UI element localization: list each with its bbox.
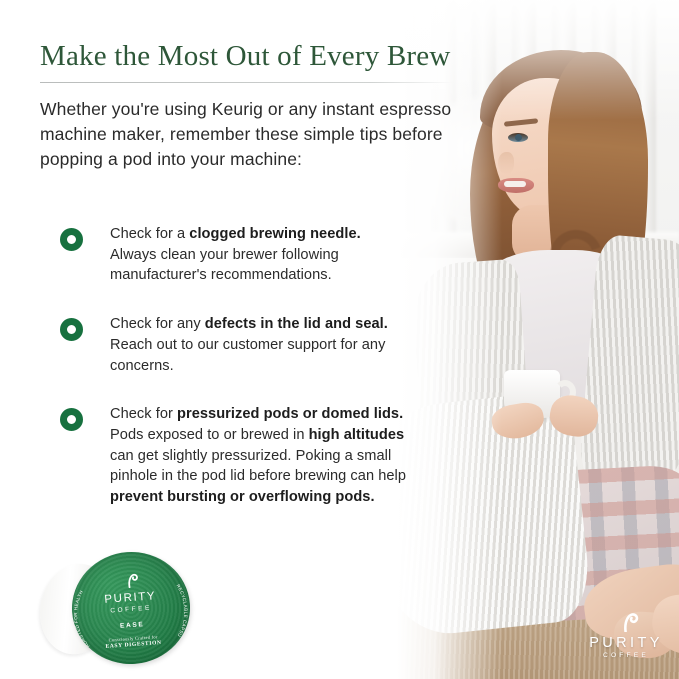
purity-spiral-icon (613, 604, 639, 632)
teeth (504, 181, 526, 187)
list-item: Check for a clogged brewing needle. Alwa… (60, 224, 420, 286)
infographic-canvas: Make the Most Out of Every Brew Whether … (0, 0, 679, 679)
intro-paragraph: Whether you're using Keurig or any insta… (40, 97, 460, 172)
list-item: Check for any defects in the lid and sea… (60, 314, 420, 376)
list-item: Check for pressurized pods or domed lids… (60, 404, 420, 508)
tip-text-2: Check for any defects in the lid and sea… (110, 314, 410, 376)
green-ring-bullet-icon (60, 408, 83, 431)
eye (508, 133, 528, 142)
logo-name: PURITY (578, 635, 674, 651)
nose (498, 152, 514, 174)
pod-lid: ROASTED FOR HEALTH AND FLAVOR RECYCLABLE… (68, 548, 194, 668)
purity-spiral-icon (118, 565, 139, 588)
logo-sub: COFFEE (578, 652, 674, 659)
brand-logo: PURITY COFFEE (578, 604, 674, 666)
tips-list: Check for a clogged brewing needle. Alwa… (60, 224, 420, 536)
green-ring-bullet-icon (60, 228, 83, 251)
tip-text-3: Check for pressurized pods or domed lids… (110, 404, 410, 508)
coffee-pod-product-image: ROASTED FOR HEALTH AND FLAVOR RECYCLABLE… (40, 548, 205, 673)
tip-text-1: Check for a clogged brewing needle. Alwa… (110, 224, 410, 286)
green-ring-bullet-icon (60, 318, 83, 341)
page-title: Make the Most Out of Every Brew (40, 40, 451, 73)
title-divider (40, 82, 453, 83)
